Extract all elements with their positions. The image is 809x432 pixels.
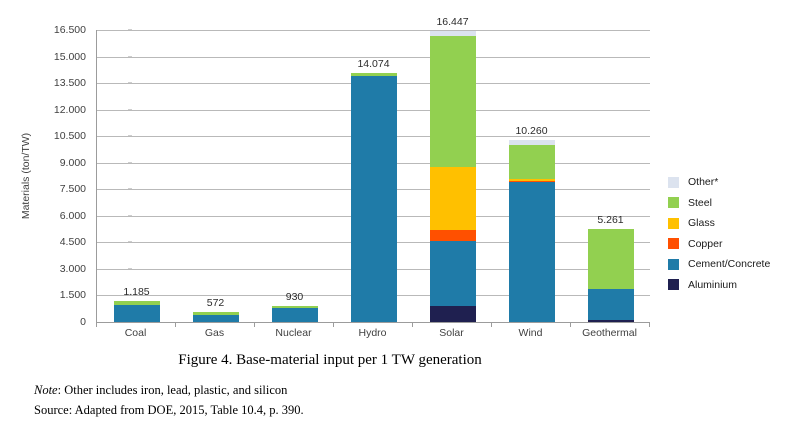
stacked-bar[interactable] [351, 73, 397, 322]
legend-item[interactable]: Steel [668, 193, 808, 214]
stacked-bar[interactable] [588, 229, 634, 322]
bar-total-label: 10.260 [515, 125, 547, 137]
bar-segment[interactable] [114, 305, 160, 322]
stacked-bar[interactable] [272, 306, 318, 322]
x-tick-label: Wind [491, 327, 570, 345]
y-tick-label: 3.000 [30, 263, 86, 275]
legend-item[interactable]: Copper [668, 234, 808, 255]
y-tick-label: 13.500 [30, 77, 86, 89]
chart-legend: Other*SteelGlassCopperCement/ConcreteAlu… [668, 172, 808, 295]
y-tick-label: 4.500 [30, 236, 86, 248]
bar-segment[interactable] [430, 230, 476, 242]
y-tick-label: 1.500 [30, 289, 86, 301]
plot-area: 1.18557293014.07416.44710.2605.261 [96, 30, 650, 322]
bar-slot: 14.074 [334, 30, 413, 322]
legend-label: Copper [688, 238, 722, 250]
legend-swatch-icon [668, 197, 679, 208]
bar-slot: 10.260 [492, 30, 571, 322]
bar-total-label: 14.074 [357, 58, 389, 70]
legend-swatch-icon [668, 218, 679, 229]
y-axis-ticks: 01.5003.0004.5006.0007.5009.00010.50012.… [36, 30, 92, 322]
legend-label: Cement/Concrete [688, 258, 770, 270]
note-text: : Other includes iron, lead, plastic, an… [58, 383, 288, 397]
legend-swatch-icon [668, 238, 679, 249]
x-tick-label: Geothermal [570, 327, 649, 345]
y-tick-label: 0 [30, 316, 86, 328]
bar-segment[interactable] [193, 315, 239, 322]
legend-label: Other* [688, 176, 718, 188]
bar-segment[interactable] [430, 241, 476, 306]
stacked-bar[interactable] [509, 140, 555, 322]
y-tick-label: 6.000 [30, 210, 86, 222]
y-tick-label: 10.500 [30, 130, 86, 142]
x-axis-labels: CoalGasNuclearHydroSolarWindGeothermal [96, 327, 649, 345]
bar-segment[interactable] [351, 76, 397, 322]
source-line: Source: Adapted from DOE, 2015, Table 10… [34, 401, 734, 421]
y-tick-label: 7.500 [30, 183, 86, 195]
bar-segment[interactable] [430, 167, 476, 230]
bar-total-label: 572 [207, 297, 225, 309]
legend-label: Glass [688, 217, 715, 229]
y-tick-label: 15.000 [30, 51, 86, 63]
x-tick-mark [649, 322, 650, 327]
legend-swatch-icon [668, 259, 679, 270]
bar-slot: 16.447 [413, 30, 492, 322]
legend-item[interactable]: Aluminium [668, 275, 808, 296]
bar-slot: 1.185 [97, 30, 176, 322]
note-line: Note: Other includes iron, lead, plastic… [34, 381, 734, 401]
stacked-bar[interactable] [193, 312, 239, 322]
bar-slot: 572 [176, 30, 255, 322]
bar-segment[interactable] [272, 308, 318, 322]
legend-label: Steel [688, 197, 712, 209]
bar-total-label: 930 [286, 291, 304, 303]
bar-total-label: 1.185 [123, 286, 149, 298]
bar-segment[interactable] [588, 229, 634, 289]
bar-total-label: 5.261 [597, 214, 623, 226]
legend-item[interactable]: Other* [668, 172, 808, 193]
figure-notes: Note: Other includes iron, lead, plastic… [34, 381, 734, 421]
stacked-bar-chart: Materials (ton/TW) 01.5003.0004.5006.000… [0, 0, 660, 350]
y-tick-label: 16.500 [30, 24, 86, 36]
bar-segment[interactable] [509, 182, 555, 322]
bar-group: 1.18557293014.07416.44710.2605.261 [97, 30, 650, 322]
x-tick-label: Nuclear [254, 327, 333, 345]
bar-segment[interactable] [588, 289, 634, 320]
legend-swatch-icon [668, 177, 679, 188]
bar-segment[interactable] [509, 145, 555, 180]
legend-swatch-icon [668, 279, 679, 290]
y-tick-label: 12.000 [30, 104, 86, 116]
bar-segment[interactable] [430, 36, 476, 167]
x-tick-label: Gas [175, 327, 254, 345]
stacked-bar[interactable] [114, 301, 160, 322]
x-tick-label: Coal [96, 327, 175, 345]
bar-slot: 930 [255, 30, 334, 322]
note-label: Note [34, 383, 58, 397]
x-tick-label: Solar [412, 327, 491, 345]
figure-container: Materials (ton/TW) 01.5003.0004.5006.000… [0, 0, 809, 432]
y-axis-title-wrapper: Materials (ton/TW) [18, 30, 34, 322]
stacked-bar[interactable] [430, 31, 476, 322]
figure-caption: Figure 4. Base-material input per 1 TW g… [0, 352, 660, 369]
legend-item[interactable]: Glass [668, 213, 808, 234]
y-tick-label: 9.000 [30, 157, 86, 169]
legend-label: Aluminium [688, 279, 737, 291]
bar-total-label: 16.447 [436, 16, 468, 28]
bar-slot: 5.261 [571, 30, 650, 322]
y-axis-title: Materials (ton/TW) [20, 133, 32, 219]
legend-item[interactable]: Cement/Concrete [668, 254, 808, 275]
x-tick-label: Hydro [333, 327, 412, 345]
bar-segment[interactable] [430, 306, 476, 322]
